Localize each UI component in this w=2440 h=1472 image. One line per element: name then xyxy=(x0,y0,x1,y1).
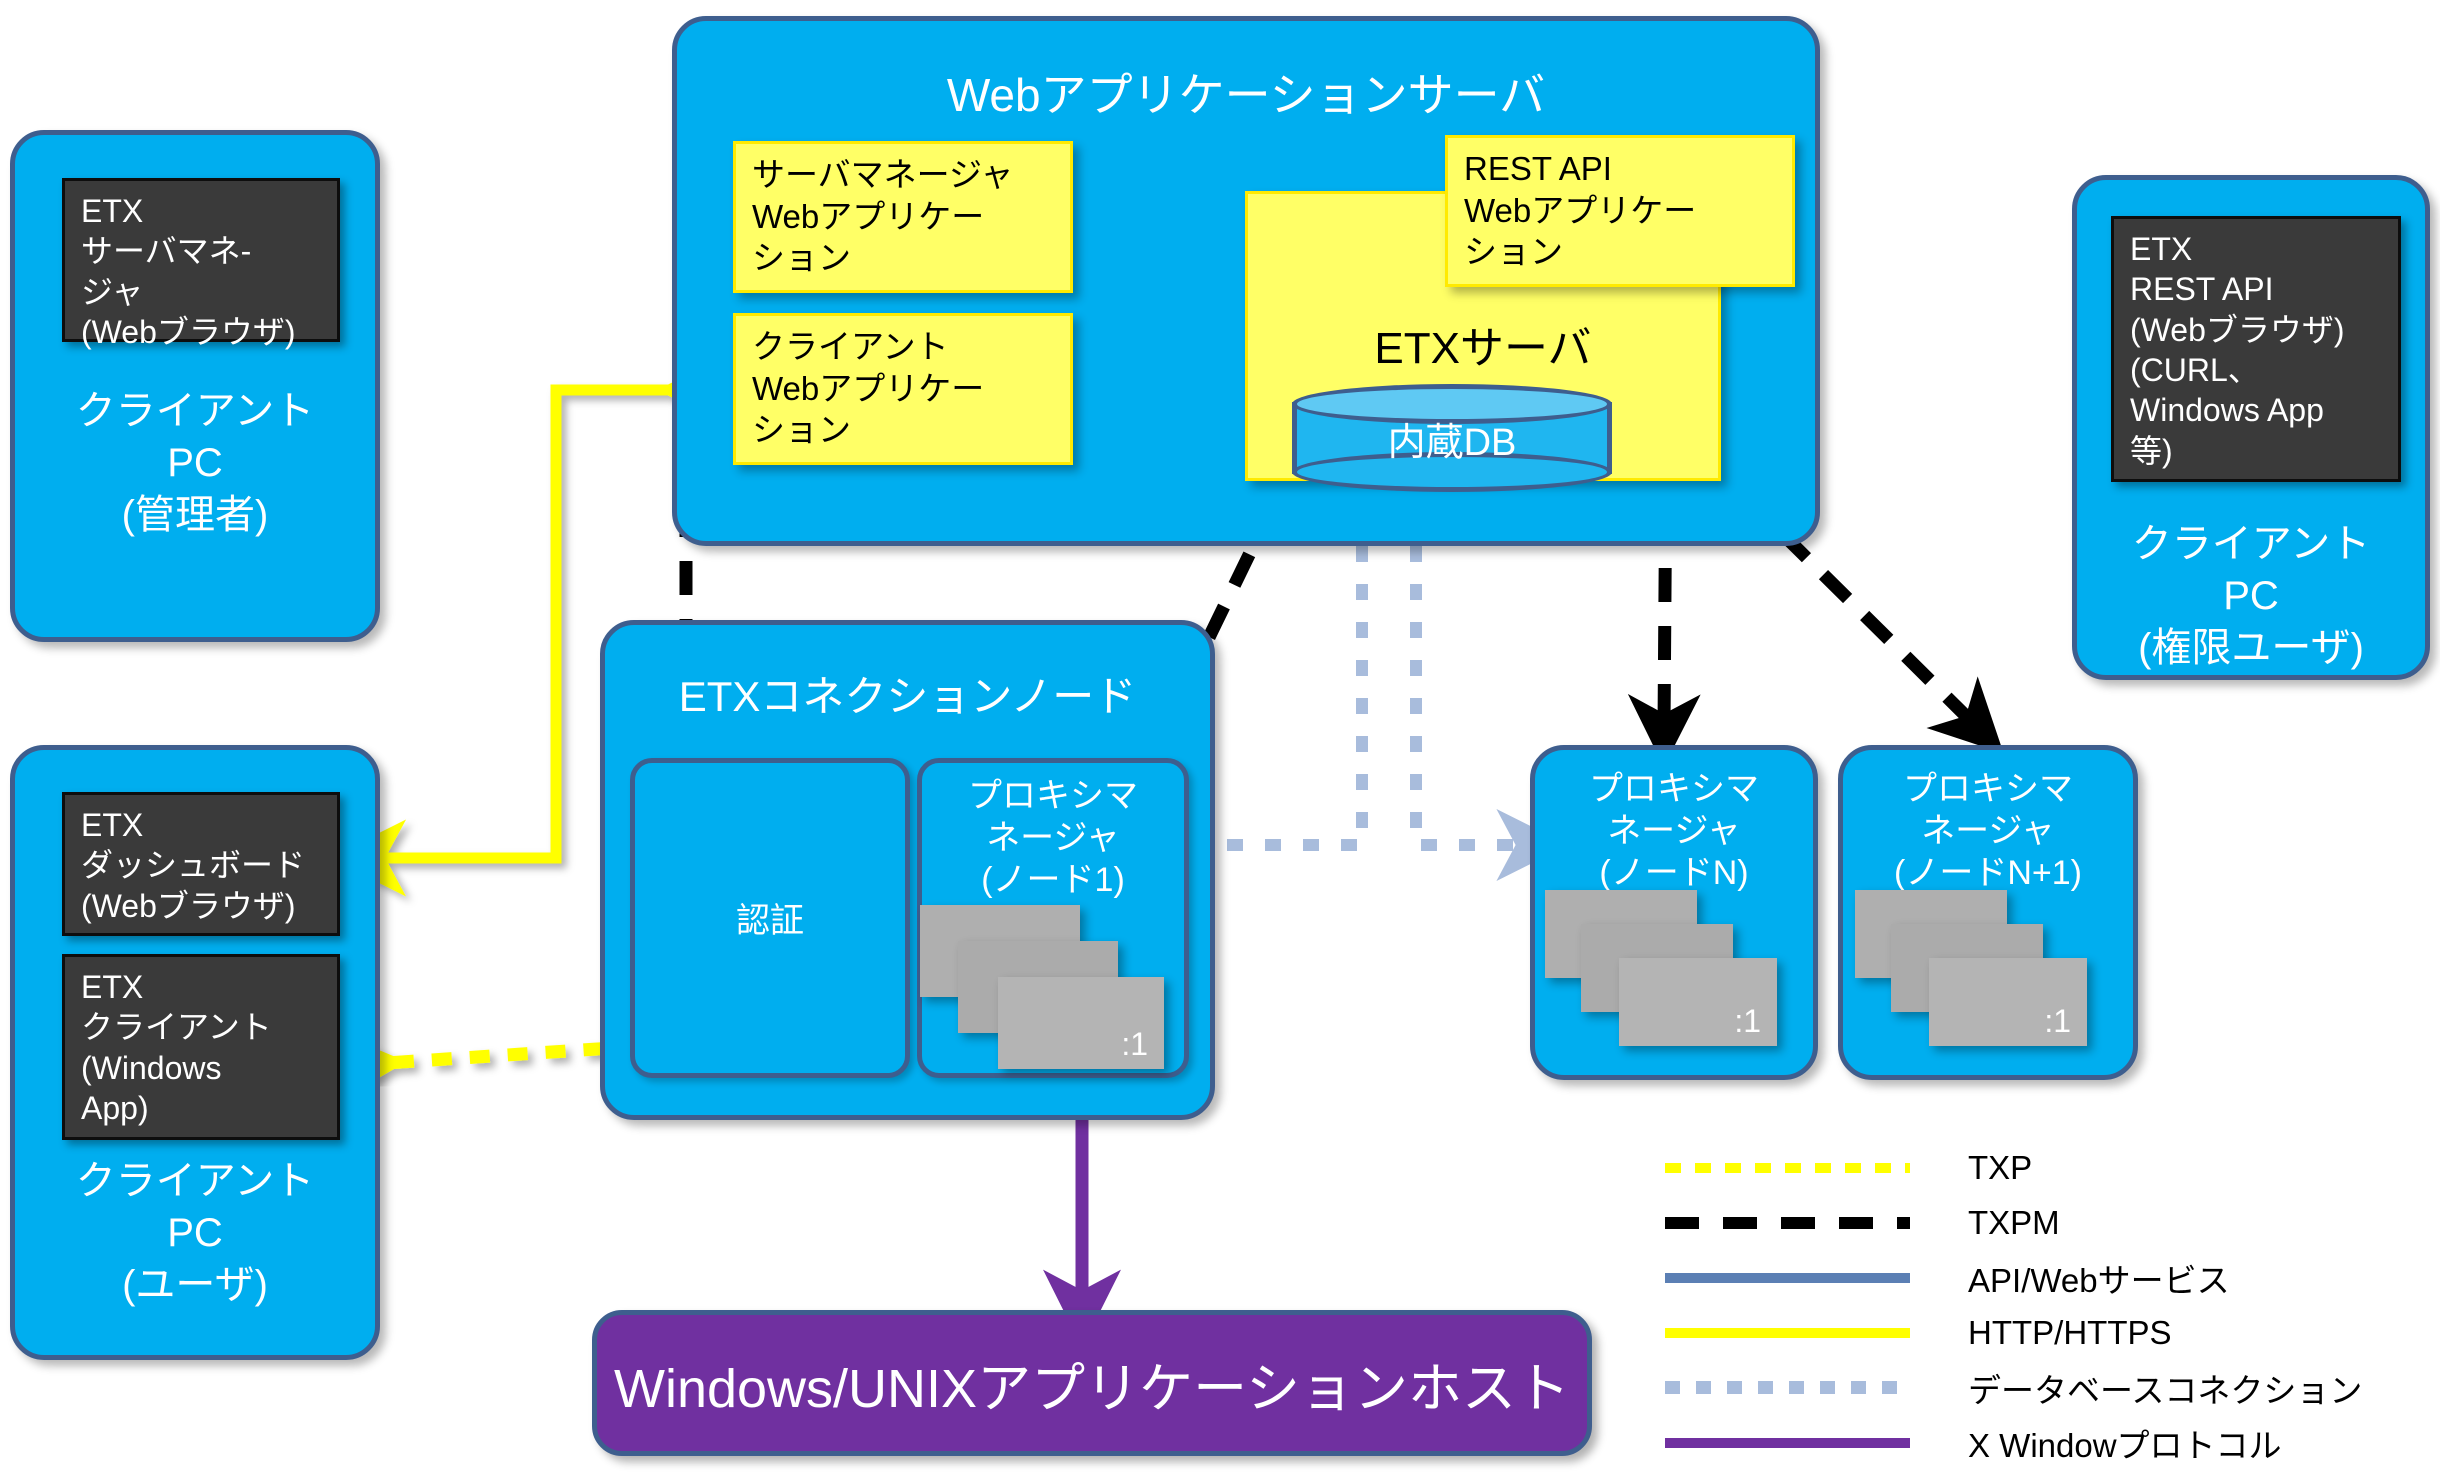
client-web-app-line-3: ション xyxy=(752,409,1056,451)
auth-module-label: 認証 xyxy=(635,893,905,942)
etx-rest-api-line-2: REST API xyxy=(2130,269,2384,309)
legend-label-dbconn: データベースコネクション xyxy=(1968,1364,2362,1412)
etx-server-title: ETXサーバ xyxy=(1248,312,1718,376)
client-pc-api-user[interactable]: ETX REST API (Webブラウザ) (CURL、 Windows Ap… xyxy=(2072,175,2430,680)
legend-row-dbconn: データベースコネクション xyxy=(1665,1360,2425,1415)
etx-rest-api-line-6: 等) xyxy=(2130,431,2384,471)
rest-api-web-app-line-2: Webアプリケー xyxy=(1464,190,1778,232)
legend: TXP TXPM API/Webサービス HTTP/HTTPS データベースコネ… xyxy=(1665,1140,2425,1470)
etx-client-line-2: クライアント xyxy=(81,1007,323,1047)
etx-server-manager-line-1: ETX xyxy=(81,191,323,231)
legend-label-http: HTTP/HTTPS xyxy=(1968,1314,2172,1352)
legend-row-http: HTTP/HTTPS xyxy=(1665,1305,2425,1360)
internal-db-cylinder[interactable]: 内蔵DB xyxy=(1292,384,1612,492)
client-pc-user[interactable]: ETX ダッシュボード (Webブラウザ) ETX クライアント (Window… xyxy=(10,745,380,1360)
client-pc-admin[interactable]: ETX サーバマネ- ジャ (Webブラウザ) クライアント PC (管理者) xyxy=(10,130,380,642)
server-manager-web-app-line-3: ション xyxy=(752,237,1056,279)
legend-row-txp: TXP xyxy=(1665,1140,2425,1195)
session-label-node1: :1 xyxy=(1121,1026,1148,1063)
legend-swatch-txp xyxy=(1665,1163,1910,1173)
client-web-app-line-2: Webアプリケー xyxy=(752,368,1056,410)
client-pc-admin-caption-line-3: (管理者) xyxy=(15,489,375,541)
client-pc-user-caption-line-1: クライアント xyxy=(15,1155,375,1207)
client-pc-api-caption-line-3: (権限ユーザ) xyxy=(2077,622,2425,674)
client-pc-api-caption-line-1: クライアント xyxy=(2077,518,2425,570)
proxy-node-n-line-3: (ノードN) xyxy=(1535,852,1813,894)
proxy-node-n-line-1: プロキシマ xyxy=(1535,768,1813,810)
session-window-front[interactable]: :1 xyxy=(998,977,1164,1069)
proxy-node-n1-line-1: プロキシマ xyxy=(1843,768,2133,810)
internal-db-label: 内蔵DB xyxy=(1292,384,1612,492)
etx-server-manager-line-3: ジャ xyxy=(81,272,323,312)
etx-client-line-4: App) xyxy=(81,1088,323,1128)
legend-label-txpm: TXPM xyxy=(1968,1204,2060,1242)
diagram-canvas: ETX サーバマネ- ジャ (Webブラウザ) クライアント PC (管理者) … xyxy=(0,0,2440,1472)
application-host-label: Windows/UNIXアプリケーションホスト xyxy=(614,1344,1570,1423)
etx-client-line-1: ETX xyxy=(81,967,323,1007)
etx-client-windows-app-box[interactable]: ETX クライアント (Windows App) xyxy=(62,954,340,1140)
legend-label-api: API/Webサービス xyxy=(1968,1254,2230,1302)
etx-rest-api-client-box[interactable]: ETX REST API (Webブラウザ) (CURL、 Windows Ap… xyxy=(2111,216,2401,482)
session-stack-node-n-plus-1[interactable]: :1 xyxy=(1855,890,2125,1055)
session-stack-node1[interactable]: :1 xyxy=(920,905,1190,1070)
legend-row-txpm: TXPM xyxy=(1665,1195,2425,1250)
client-pc-admin-caption-line-2: PC xyxy=(15,437,375,489)
etx-rest-api-line-3: (Webブラウザ) xyxy=(2130,310,2384,350)
etx-server-manager-browser-box[interactable]: ETX サーバマネ- ジャ (Webブラウザ) xyxy=(62,178,340,342)
client-pc-api-user-caption: クライアント PC (権限ユーザ) xyxy=(2077,518,2425,674)
client-pc-user-caption-line-3: (ユーザ) xyxy=(15,1259,375,1311)
etx-server-manager-line-4: (Webブラウザ) xyxy=(81,312,323,352)
proxy-manager-node1-label: プロキシマ ネージャ (ノード1) xyxy=(922,775,1184,901)
server-manager-web-app[interactable]: サーバマネージャ Webアプリケー ション xyxy=(733,141,1073,293)
rest-api-web-app-line-1: REST API xyxy=(1464,148,1778,190)
auth-module[interactable]: 認証 xyxy=(630,758,910,1078)
etx-client-line-3: (Windows xyxy=(81,1048,323,1088)
client-pc-api-caption-line-2: PC xyxy=(2077,570,2425,622)
session-stack-node-n[interactable]: :1 xyxy=(1545,890,1815,1055)
legend-swatch-xwindow xyxy=(1665,1438,1910,1448)
legend-label-txp: TXP xyxy=(1968,1149,2032,1187)
proxy-manager-node1-line-2: ネージャ xyxy=(922,817,1184,859)
server-manager-web-app-line-1: サーバマネージャ xyxy=(752,154,1056,196)
rest-api-web-app-line-3: ション xyxy=(1464,231,1778,273)
session-label-node-n: :1 xyxy=(1734,1003,1761,1040)
legend-swatch-http xyxy=(1665,1328,1910,1338)
client-web-app[interactable]: クライアント Webアプリケー ション xyxy=(733,313,1073,465)
legend-swatch-dbconn xyxy=(1665,1381,1910,1394)
client-pc-admin-caption: クライアント PC (管理者) xyxy=(15,385,375,541)
proxy-manager-node-n-plus-1-label: プロキシマ ネージャ (ノードN+1) xyxy=(1843,768,2133,894)
etx-dashboard-browser-box[interactable]: ETX ダッシュボード (Webブラウザ) xyxy=(62,792,340,936)
session-window-front[interactable]: :1 xyxy=(1929,958,2087,1046)
server-manager-web-app-line-2: Webアプリケー xyxy=(752,196,1056,238)
proxy-node-n-line-2: ネージャ xyxy=(1535,810,1813,852)
client-pc-user-caption-line-2: PC xyxy=(15,1207,375,1259)
etx-rest-api-line-5: Windows App xyxy=(2130,390,2384,430)
legend-swatch-api xyxy=(1665,1273,1910,1283)
client-web-app-line-1: クライアント xyxy=(752,326,1056,368)
proxy-manager-node-n-label: プロキシマ ネージャ (ノードN) xyxy=(1535,768,1813,894)
etx-dashboard-line-1: ETX xyxy=(81,805,323,845)
session-window-front[interactable]: :1 xyxy=(1619,958,1777,1046)
web-application-server[interactable]: Webアプリケーションサーバ ETXサーバ 内蔵DB サーバマネージャ Webア… xyxy=(672,16,1820,546)
etx-rest-api-line-1: ETX xyxy=(2130,229,2384,269)
legend-row-xwindow: X Windowプロトコル xyxy=(1665,1415,2425,1470)
proxy-node-n1-line-2: ネージャ xyxy=(1843,810,2133,852)
application-host[interactable]: Windows/UNIXアプリケーションホスト xyxy=(592,1310,1592,1456)
client-pc-admin-caption-line-1: クライアント xyxy=(15,385,375,437)
proxy-node-n1-line-3: (ノードN+1) xyxy=(1843,852,2133,894)
etx-server-manager-line-2: サーバマネ- xyxy=(81,231,323,271)
proxy-manager-node1-line-3: (ノード1) xyxy=(922,859,1184,901)
legend-label-xwindow: X Windowプロトコル xyxy=(1968,1419,2282,1467)
etx-dashboard-line-2: ダッシュボード xyxy=(81,845,323,885)
session-label-node-n-plus-1: :1 xyxy=(2044,1003,2071,1040)
web-application-server-title: Webアプリケーションサーバ xyxy=(677,59,1815,125)
client-pc-user-caption: クライアント PC (ユーザ) xyxy=(15,1155,375,1311)
etx-rest-api-line-4: (CURL、 xyxy=(2130,350,2384,390)
etx-dashboard-line-3: (Webブラウザ) xyxy=(81,886,323,926)
legend-swatch-txpm xyxy=(1665,1217,1910,1229)
legend-row-api: API/Webサービス xyxy=(1665,1250,2425,1305)
proxy-manager-node1-line-1: プロキシマ xyxy=(922,775,1184,817)
rest-api-web-app[interactable]: REST API Webアプリケー ション xyxy=(1445,135,1795,287)
etx-connection-node-title: ETXコネクションノード xyxy=(605,663,1210,724)
